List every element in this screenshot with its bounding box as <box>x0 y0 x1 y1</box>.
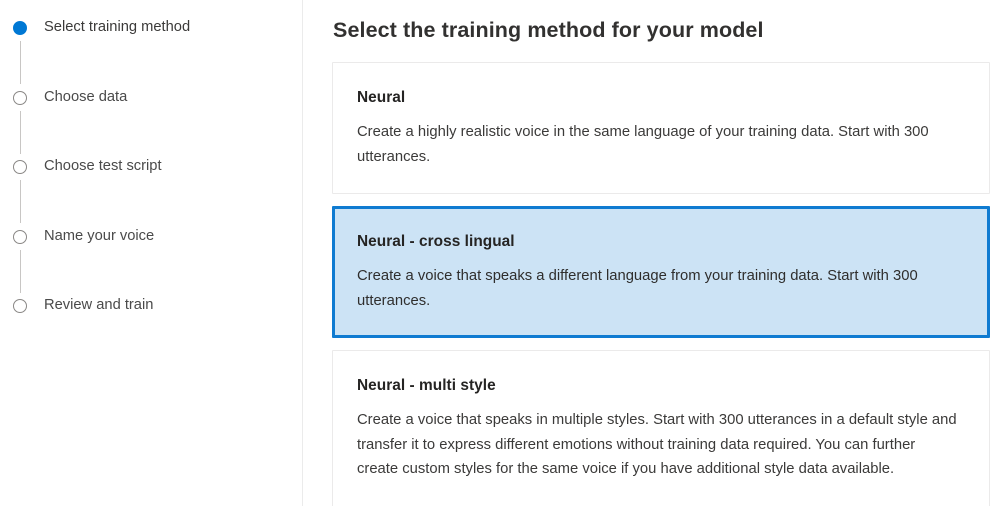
training-method-option-list: Neural Create a highly realistic voice i… <box>332 62 990 506</box>
sidebar-step-choose-data[interactable]: Choose data <box>13 88 302 158</box>
step-connector-line <box>20 180 21 223</box>
step-marker <box>13 230 29 246</box>
step-marker <box>13 21 29 37</box>
empty-radio-icon <box>13 230 27 244</box>
content-pane: Select the training method for your mode… <box>303 0 999 506</box>
step-connector-line <box>20 111 21 154</box>
sidebar-step-label: Choose data <box>44 88 127 107</box>
option-card-description: Create a voice that speaks in multiple s… <box>357 408 957 482</box>
sidebar-step-label: Choose test script <box>44 157 162 176</box>
page-title: Select the training method for your mode… <box>332 0 990 44</box>
option-card-title: Neural <box>357 88 965 108</box>
sidebar-step-choose-test-script[interactable]: Choose test script <box>13 157 302 227</box>
sidebar-step-select-training-method[interactable]: Select training method <box>13 18 302 88</box>
option-card-title: Neural - cross lingual <box>357 232 965 252</box>
option-card-neural-cross-lingual[interactable]: Neural - cross lingual Create a voice th… <box>332 206 990 338</box>
option-card-description: Create a voice that speaks a different l… <box>357 264 957 313</box>
step-connector-line <box>20 41 21 84</box>
empty-radio-icon <box>13 160 27 174</box>
option-card-title: Neural - multi style <box>357 376 965 396</box>
empty-radio-icon <box>13 299 27 313</box>
filled-radio-icon <box>13 21 27 35</box>
wizard-stepper: Select training method Choose data Choos… <box>0 0 303 506</box>
option-card-neural-multi-style[interactable]: Neural - multi style Create a voice that… <box>332 350 990 506</box>
step-marker <box>13 91 29 107</box>
step-connector-line <box>20 250 21 293</box>
sidebar-step-label: Select training method <box>44 18 190 37</box>
empty-radio-icon <box>13 91 27 105</box>
sidebar-step-label: Review and train <box>44 296 153 315</box>
sidebar-step-label: Name your voice <box>44 227 154 246</box>
training-method-wizard: Select training method Choose data Choos… <box>0 0 999 506</box>
sidebar-step-review-and-train[interactable]: Review and train <box>13 296 302 315</box>
option-card-description: Create a highly realistic voice in the s… <box>357 120 957 169</box>
step-marker <box>13 160 29 176</box>
option-card-neural[interactable]: Neural Create a highly realistic voice i… <box>332 62 990 194</box>
sidebar-step-name-your-voice[interactable]: Name your voice <box>13 227 302 297</box>
step-marker <box>13 299 29 315</box>
